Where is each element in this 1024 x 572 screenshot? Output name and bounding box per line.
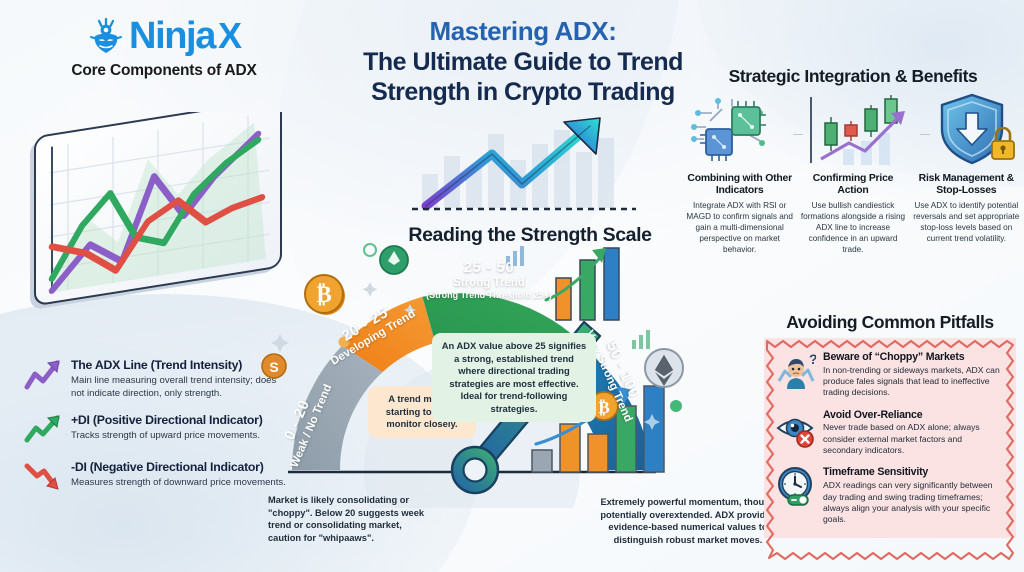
pitfall-item-choppy: ? Beware of “Choppy” Markets In non-tren…	[776, 351, 1004, 399]
column-desc: Integrate ADX with RSI or MAGD to confir…	[685, 201, 794, 256]
pitfall-desc: ADX readings can very significantly betw…	[823, 480, 1004, 525]
brand-name: Ninja	[129, 17, 215, 55]
column-title: Combining with Other Indicators	[685, 173, 794, 198]
brand-subtitle: Core Components of ADX	[24, 62, 304, 80]
pitfall-title: Timeframe Sensitivity	[823, 466, 1004, 479]
eye-with-x-icon	[776, 409, 816, 449]
ethereum-coin-icon	[380, 246, 408, 274]
strategic-column-indicators: Combining with Other Indicators Integrat…	[685, 173, 794, 256]
caption-very-strong-trend: Extremely powerful momentum, though pote…	[600, 496, 776, 547]
section-title: Strategic Integration & Benefits	[682, 66, 1024, 87]
bitcoin-coin-icon: ₿	[305, 275, 345, 315]
column-desc: Use bullish candiestick formations along…	[798, 201, 907, 256]
pitfall-desc: Never trade based on ADX alone; always c…	[823, 422, 1004, 456]
green-up-arrow-icon	[24, 413, 64, 447]
page-title: Mastering ADX: The Ultimate Guide to Tre…	[332, 16, 714, 107]
strategic-column-risk: Risk Management & Stop-Losses Use ADX to…	[912, 173, 1021, 256]
column-title: Confirming Price Action	[798, 173, 907, 198]
ethereum-coin-silver-icon	[645, 349, 683, 387]
strategic-icon-row	[682, 93, 1024, 165]
svg-text:?: ?	[809, 351, 816, 367]
clock-toggle-icon	[776, 466, 816, 506]
title-line-2: The Ultimate Guide to Trend	[332, 47, 714, 77]
brand-row: Ninja X	[24, 16, 304, 56]
confused-person-icon: ?	[776, 351, 816, 391]
section-title: Avoiding Common Pitfalls	[764, 312, 1016, 333]
avoiding-pitfalls-section: Avoiding Common Pitfalls ?	[764, 312, 1016, 538]
rising-gradient-arrow-icon	[404, 112, 654, 224]
shield-lock-icon	[934, 93, 1018, 165]
caption-weak-trend: Market is likely consolidating or "chopp…	[268, 494, 432, 545]
column-desc: Use ADX to identify potential reversals …	[912, 201, 1021, 245]
pitfalls-panel: ? Beware of “Choppy” Markets In non-tren…	[764, 338, 1016, 538]
strategic-columns: Combining with Other Indicators Integrat…	[682, 173, 1024, 256]
upper-bar-chart-icon	[546, 248, 619, 320]
svg-text:₿: ₿	[598, 398, 609, 417]
small-coin-icon: S	[262, 354, 286, 378]
brand-name-accent: X	[218, 18, 242, 54]
pitfall-title: Beware of “Choppy” Markets	[823, 351, 1004, 364]
purple-up-arrow-icon	[24, 358, 64, 392]
candlestick-chart-icon	[807, 93, 915, 165]
svg-text:₿: ₿	[316, 282, 331, 307]
infographic-canvas: Ninja X Core Components of ADX Mastering…	[0, 0, 1024, 572]
title-line-1: Mastering ADX:	[332, 16, 714, 47]
column-title: Risk Management & Stop-Losses	[912, 173, 1021, 198]
svg-text:S: S	[269, 359, 278, 375]
title-line-3: Strength in Crypto Trading	[332, 77, 714, 107]
pitfall-item-over-reliance: Avoid Over-Reliance Never trade based on…	[776, 409, 1004, 457]
connector-line-1	[793, 134, 803, 135]
circuit-chip-icon	[688, 93, 788, 165]
strategic-column-price-action: Confirming Price Action Use bullish cand…	[798, 173, 907, 256]
strategic-integration-section: Strategic Integration & Benefits	[682, 66, 1024, 256]
pitfall-item-timeframe: Timeframe Sensitivity ADX readings can v…	[776, 466, 1004, 525]
brand-block: Ninja X Core Components of ADX	[24, 16, 304, 80]
pitfall-desc: In non-trending or sideways markets, ADX…	[823, 365, 1004, 399]
callout-strong-trend: An ADX value above 25 signifies a strong…	[432, 333, 596, 422]
pitfall-title: Avoid Over-Reliance	[823, 409, 1004, 422]
connector-line-2	[920, 134, 930, 135]
red-down-arrow-icon	[24, 460, 64, 494]
ninja-mask-icon	[86, 16, 126, 56]
